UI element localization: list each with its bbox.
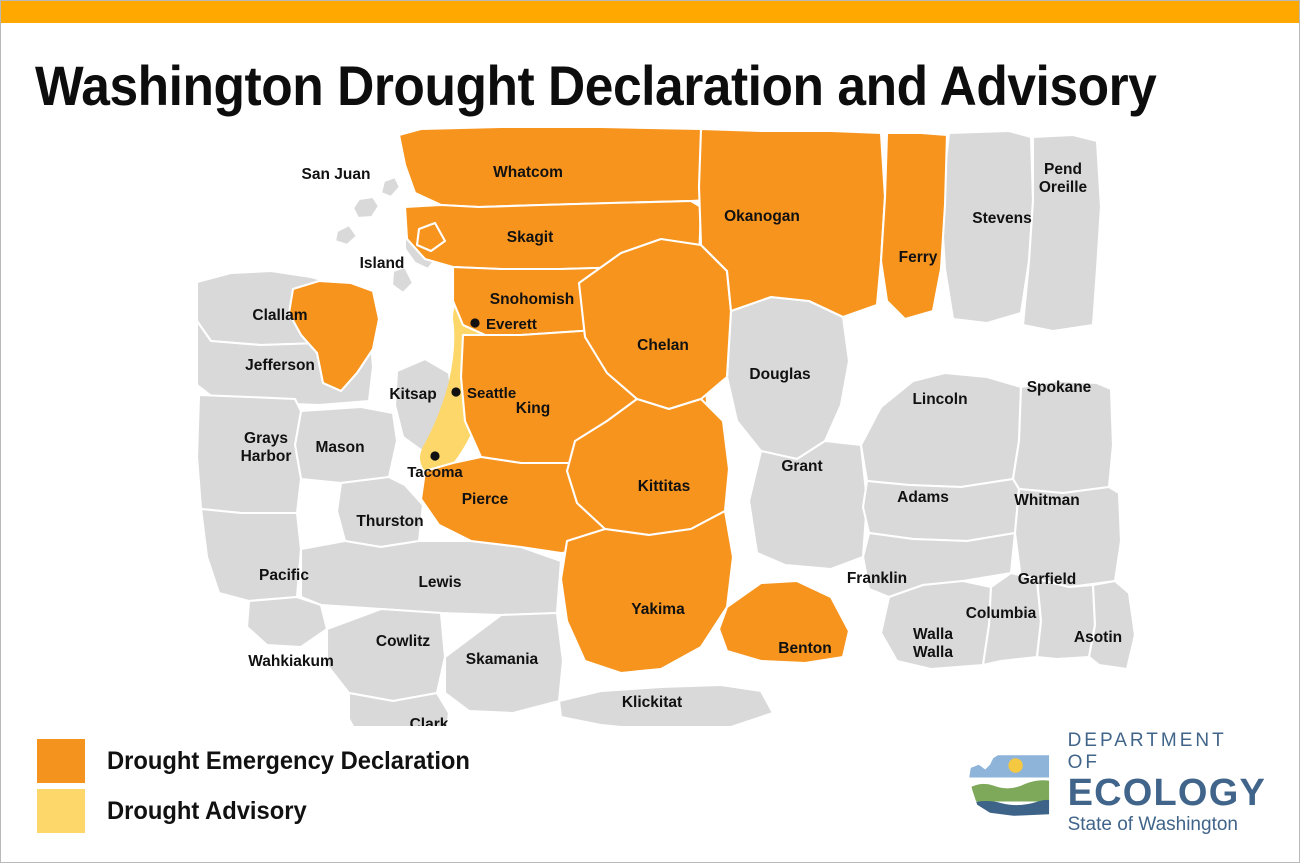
county-thurston [337,477,423,547]
label-pierce: Pierce [462,491,509,508]
label-whatcom: Whatcom [493,164,563,181]
washington-county-map: Whatcom Skagit Snohomish King Pierce Che… [151,106,1161,726]
label-pend-oreille-1: Pend [1044,161,1082,178]
county-stevens [941,131,1033,323]
label-cowlitz: Cowlitz [376,633,430,650]
label-adams: Adams [897,489,949,506]
label-grays-harbor-2: Harbor [241,448,292,465]
label-pend-oreille-2: Oreille [1039,179,1088,196]
city-dot-tacoma [430,451,439,460]
county-wahkiakum [247,597,327,647]
label-grant: Grant [781,458,822,475]
map-svg: Whatcom Skagit Snohomish King Pierce Che… [151,106,1161,726]
label-okanogan: Okanogan [724,208,800,225]
label-chelan: Chelan [637,337,689,354]
county-cowlitz [327,609,445,701]
drought-emergency-swatch [37,739,85,783]
label-snohomish: Snohomish [490,291,574,308]
county-yakima [561,511,733,673]
county-pacific [201,509,301,601]
legend-row-emergency: Drought Emergency Declaration [37,736,489,786]
legend-label-advisory: Drought Advisory [107,797,307,826]
label-lincoln: Lincoln [912,391,967,408]
drought-map-page: Washington Drought Declaration and Advis… [0,0,1300,863]
city-label-everett: Everett [486,316,537,333]
label-kitsap: Kitsap [389,386,436,403]
label-king: King [516,400,550,417]
label-jefferson: Jefferson [245,357,315,374]
logo-hills [966,780,1056,801]
label-clallam: Clallam [252,307,307,324]
ecology-logo-text: DEPARTMENT OF ECOLOGY State of Washingto… [1068,730,1266,837]
label-asotin: Asotin [1074,629,1122,646]
county-spokane [1013,381,1113,493]
label-walla-walla-2: Walla [913,644,953,661]
label-stevens: Stevens [972,210,1031,227]
legend-label-emergency: Drought Emergency Declaration [107,747,470,776]
label-columbia: Columbia [966,605,1037,622]
label-clark: Clark [410,716,449,726]
label-klickitat: Klickitat [622,694,682,711]
logo-line-state: State of Washington [1068,813,1266,837]
logo-line-ecology: ECOLOGY [1068,774,1266,814]
label-grays-harbor-1: Grays [244,430,288,447]
label-thurston: Thurston [356,513,423,530]
city-dot-seattle [451,387,460,396]
top-accent-bar [1,1,1299,23]
label-whitman: Whitman [1014,492,1079,509]
label-spokane: Spokane [1027,379,1092,396]
county-garfield [1037,579,1095,659]
city-dot-everett [470,318,479,327]
label-wahkiakum: Wahkiakum [248,653,334,670]
drought-advisory-swatch [37,789,85,833]
county-san-juan [335,177,400,245]
city-label-seattle: Seattle [467,385,516,402]
label-yakima: Yakima [631,601,685,618]
city-label-tacoma: Tacoma [407,464,463,481]
label-garfield: Garfield [1018,571,1077,588]
label-kittitas: Kittitas [638,478,691,495]
logo-state-shape [966,746,1056,822]
ecology-logo-mark [966,736,1056,831]
label-skagit: Skagit [507,229,554,246]
label-pacific: Pacific [259,567,309,584]
label-douglas: Douglas [749,366,810,383]
label-lewis: Lewis [418,574,461,591]
map-legend: Drought Emergency Declaration Drought Ad… [37,736,489,836]
ecology-logo: DEPARTMENT OF ECOLOGY State of Washingto… [966,731,1266,836]
label-benton: Benton [778,640,831,657]
label-island: Island [360,255,405,272]
label-walla-walla-1: Walla [913,626,953,643]
label-mason: Mason [315,439,364,456]
county-asotin [1089,581,1135,669]
county-ferry [881,133,947,319]
label-san-juan: San Juan [302,166,371,183]
label-franklin: Franklin [847,570,907,587]
label-skamania: Skamania [466,651,539,668]
logo-line-department: DEPARTMENT OF [1068,730,1266,774]
legend-row-advisory: Drought Advisory [37,786,489,836]
label-ferry: Ferry [899,249,938,266]
logo-sun-icon [1008,758,1022,772]
logo-water [966,800,1056,822]
